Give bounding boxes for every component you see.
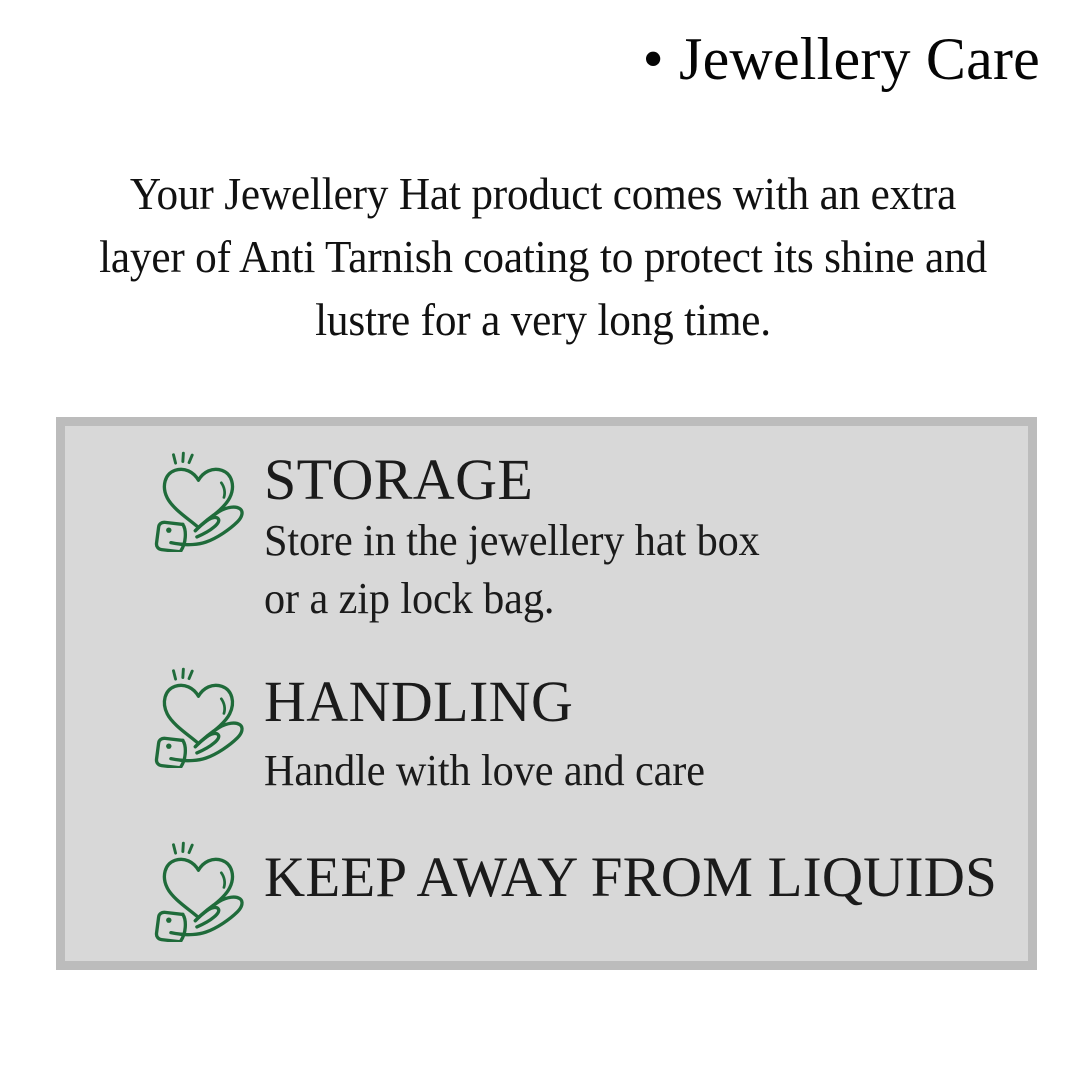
care-item-heading: HANDLING bbox=[264, 672, 723, 732]
care-item-handling: HANDLING Handle with love and care bbox=[148, 664, 723, 800]
care-item-heading: STORAGE bbox=[264, 450, 780, 510]
care-item-text: KEEP AWAY FROM LIQUIDS bbox=[264, 834, 997, 908]
care-item-description-line-1: Store in the jewellery hat box bbox=[264, 512, 760, 570]
intro-paragraph: Your Jewellery Hat product comes with an… bbox=[98, 162, 987, 351]
care-item-heading: KEEP AWAY FROM LIQUIDS bbox=[264, 848, 997, 908]
care-instructions-list: STORAGE Store in the jewellery hat box o… bbox=[65, 426, 1028, 961]
hand-holding-heart-icon bbox=[148, 664, 252, 768]
care-item-text: HANDLING Handle with love and care bbox=[264, 664, 723, 800]
hand-holding-heart-icon bbox=[148, 838, 252, 942]
care-item-storage: STORAGE Store in the jewellery hat box o… bbox=[148, 448, 780, 628]
care-item-description-line-2: or a zip lock bag. bbox=[264, 570, 760, 628]
care-item-keep-away-from-liquids: KEEP AWAY FROM LIQUIDS bbox=[148, 834, 997, 942]
hand-holding-heart-icon bbox=[148, 448, 252, 552]
care-item-description-line-1: Handle with love and care bbox=[264, 742, 705, 800]
care-instructions-panel: STORAGE Store in the jewellery hat box o… bbox=[56, 417, 1037, 970]
page-title: • Jewellery Care bbox=[0, 26, 1040, 92]
care-item-text: STORAGE Store in the jewellery hat box o… bbox=[264, 448, 780, 628]
